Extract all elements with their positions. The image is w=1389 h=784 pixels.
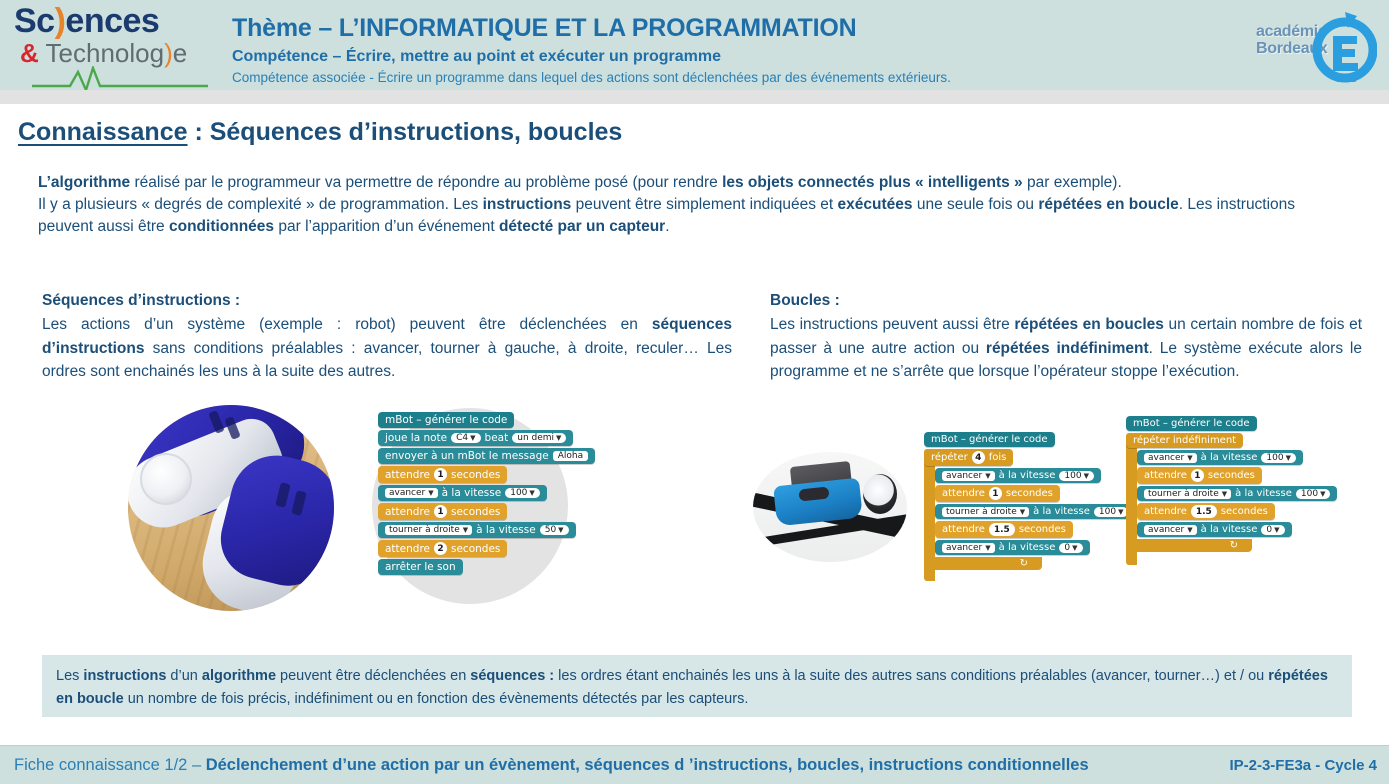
sequences-text-2: sans conditions préalables : avancer, to… (42, 340, 732, 381)
logo-line-technologie: & Technolog)e (20, 40, 214, 66)
chevron-down-icon: ▼ (529, 489, 534, 497)
intro-text-5: une seule fois ou (913, 196, 1039, 213)
block-tourner-droite[interactable]: tourner à droite▼ à la vitesse 100▼ (935, 504, 1135, 519)
wait-value: 2 (437, 544, 443, 554)
block-avancer-0[interactable]: avancer▼ à la vitesse 0▼ (935, 540, 1090, 555)
loop-container-repeat: répéter 4 fois avancer▼ à la vitesse 100… (924, 449, 1135, 570)
wait-seconds-input[interactable]: 1 (1191, 469, 1204, 482)
direction-value: avancer (946, 543, 982, 553)
direction-dropdown[interactable]: avancer▼ (1144, 453, 1197, 463)
intro-bold-repetees: répétées en boucle (1038, 196, 1178, 213)
intro-text-3: Il y a plusieurs « degrés de complexité … (38, 196, 483, 213)
direction-dropdown[interactable]: avancer▼ (942, 471, 995, 481)
beat-dropdown[interactable]: un demi▼ (512, 433, 566, 443)
summary-box: Les instructions d’un algorithme peuvent… (42, 655, 1352, 717)
direction-value: tourner à droite (389, 525, 460, 535)
intro-text-2: par exemple). (1023, 174, 1122, 191)
block-attendre-1[interactable]: attendre 1 secondes (1137, 467, 1262, 484)
block-label: répéter (931, 452, 968, 463)
intro-bold-conditionnees: conditionnées (169, 218, 274, 235)
block-envoyer-message[interactable]: envoyer à un mBot le message Aloha (378, 448, 595, 464)
academie-bordeaux-logo: académie Bordeaux (1254, 6, 1379, 86)
block-attendre-1[interactable]: attendre 1 secondes (935, 485, 1060, 502)
column-sequences: Séquences d’instructions : Les actions d… (42, 292, 732, 384)
block-label-unit: secondes (451, 543, 500, 555)
chevron-down-icon: ▼ (985, 472, 990, 480)
speed-value: 100 (1064, 471, 1081, 481)
wait-seconds-input[interactable]: 1 (989, 487, 1002, 500)
repeat-count-input[interactable]: 4 (972, 451, 985, 464)
speed-dropdown[interactable]: 0▼ (1059, 543, 1082, 553)
block-hat-mbot[interactable]: mBot – générer le code (924, 432, 1055, 447)
summary-text-2: d’un (166, 668, 201, 684)
page-header: Sc)ences & Technolog)e Thème – L’INFORMA… (0, 0, 1389, 90)
speed-value: 100 (510, 488, 527, 498)
chevron-down-icon: ▼ (985, 544, 990, 552)
block-attendre-15[interactable]: attendre 1.5 secondes (1137, 503, 1275, 520)
wait-value: 1 (992, 489, 998, 499)
photo-robots (128, 405, 334, 611)
robot-one-wheel (140, 453, 192, 505)
fiche-connaissance-page: Sc)ences & Technolog)e Thème – L’INFORMA… (0, 0, 1389, 784)
chevron-down-icon: ▼ (428, 489, 433, 497)
speed-value: 100 (1099, 507, 1116, 517)
intro-paragraph: L’algorithme réalisé par le programmeur … (38, 172, 1328, 238)
chevron-down-icon: ▼ (1072, 544, 1077, 552)
wait-seconds-input[interactable]: 1.5 (989, 523, 1015, 536)
competence-line: Compétence – Écrire, mettre au point et … (232, 47, 1232, 66)
logo-line-sciences: Sc)ences (14, 4, 214, 38)
speed-value: 100 (1266, 453, 1283, 463)
chevron-down-icon: ▼ (1222, 490, 1227, 498)
block-label: attendre (942, 488, 985, 499)
direction-value: avancer (1148, 525, 1184, 535)
loop-arrow-icon: ↻ (1230, 540, 1238, 551)
intro-bold-executees: exécutées (838, 196, 913, 213)
summary-bold-algorithme: algorithme (202, 668, 276, 684)
block-label: à la vitesse (1235, 488, 1292, 499)
block-label-unit: secondes (1006, 488, 1053, 499)
speed-value: 0 (1266, 525, 1272, 535)
direction-dropdown[interactable]: avancer▼ (1144, 525, 1197, 535)
sciences-technologie-logo: Sc)ences & Technolog)e (14, 4, 214, 84)
summary-text-5: un nombre de fois précis, indéfiniment o… (124, 691, 749, 707)
wait-value: 1.5 (1196, 507, 1212, 517)
wait-seconds-input[interactable]: 1 (434, 505, 447, 518)
sequences-paragraph: Les actions d’un système (exemple : robo… (42, 313, 732, 384)
direction-dropdown[interactable]: tourner à droite▼ (942, 507, 1029, 517)
block-label-unit: secondes (1221, 506, 1268, 517)
wait-value: 1 (1194, 471, 1200, 481)
intro-text-8: . (665, 218, 669, 235)
summary-bold-sequences: séquences : (470, 668, 554, 684)
intro-bold-algorithme: L’algorithme (38, 174, 130, 191)
summary-bold-instructions: instructions (83, 668, 166, 684)
chevron-down-icon: ▼ (1020, 508, 1025, 516)
block-label-beat: beat (485, 432, 509, 444)
summary-text-4: les ordres étant enchainés les uns à la … (554, 668, 1268, 684)
note-value: C4 (456, 433, 468, 443)
chevron-down-icon: ▼ (1286, 454, 1291, 462)
speed-dropdown[interactable]: 100▼ (1296, 489, 1331, 499)
message-input[interactable]: Aloha (553, 451, 588, 461)
direction-dropdown[interactable]: avancer▼ (942, 543, 995, 553)
logo-sc-text: Sc (14, 2, 55, 40)
block-label: à la vitesse (476, 524, 536, 536)
wait-seconds-input[interactable]: 1.5 (1191, 505, 1217, 518)
photo-mbot (753, 452, 907, 562)
block-label: arrêter le son (385, 561, 456, 573)
chevron-down-icon: ▼ (1084, 472, 1089, 480)
loop-body: avancer▼ à la vitesse 100▼ attendre 1 se… (1137, 450, 1337, 539)
speed-dropdown[interactable]: 100▼ (1261, 453, 1296, 463)
logo-paren2-icon: ) (164, 38, 173, 68)
program-sequence: mBot – générer le code joue la note C4▼ … (378, 412, 595, 577)
page-title: Connaissance : Séquences d’instructions,… (18, 118, 622, 147)
footer-reference-code: IP-2-3-FE3a - Cycle 4 (1229, 757, 1377, 774)
chevron-down-icon: ▼ (556, 434, 561, 442)
wait-value: 1 (437, 470, 443, 480)
direction-value: avancer (1148, 453, 1184, 463)
chevron-down-icon: ▼ (470, 434, 475, 442)
block-attendre-1b[interactable]: attendre 1 secondes (378, 503, 507, 520)
boucles-heading: Boucles : (770, 292, 1362, 310)
boucles-paragraph: Les instructions peuvent aussi être répé… (770, 313, 1362, 384)
speed-dropdown[interactable]: 50▼ (540, 525, 569, 535)
logo-technolog-text: Technolog (46, 38, 165, 68)
summary-text-1: Les (56, 668, 83, 684)
block-repeter-fois[interactable]: répéter 4 fois (924, 449, 1013, 466)
message-value: Aloha (558, 451, 583, 461)
block-hat-label: mBot – générer le code (1133, 418, 1250, 429)
block-label-unit: secondes (451, 506, 500, 518)
intro-bold-objets: les objets connectés plus « intelligents… (722, 174, 1023, 191)
wait-value: 1 (437, 507, 443, 517)
speed-value: 0 (1064, 543, 1070, 553)
header-text-block: Thème – L’INFORMATIQUE ET LA PROGRAMMATI… (232, 14, 1232, 86)
block-label: joue la note (385, 432, 447, 444)
block-hat-mbot[interactable]: mBot – générer le code (378, 412, 514, 428)
footer-subject-label: Déclenchement d’une action par un évènem… (206, 756, 1089, 774)
intro-bold-instructions: instructions (483, 196, 572, 213)
page-title-rest: : Séquences d’instructions, boucles (188, 118, 623, 146)
logo-paren-icon: ) (55, 2, 66, 40)
block-label-unit: secondes (1019, 524, 1066, 535)
logo-ampersand: & (20, 38, 39, 68)
direction-dropdown[interactable]: tourner à droite▼ (385, 525, 472, 535)
block-tourner-droite[interactable]: tourner à droite▼ à la vitesse 100▼ (1137, 486, 1337, 501)
note-dropdown[interactable]: C4▼ (451, 433, 480, 443)
speed-value: 50 (545, 525, 556, 535)
block-label-unit: secondes (451, 469, 500, 481)
chevron-down-icon: ▼ (1187, 526, 1192, 534)
speed-dropdown[interactable]: 100▼ (1059, 471, 1094, 481)
block-avancer-0[interactable]: avancer▼ à la vitesse 0▼ (1137, 522, 1292, 537)
direction-value: tourner à droite (946, 507, 1017, 517)
loop-container-forever: répéter indéfiniment avancer▼ à la vites… (1126, 433, 1337, 552)
block-label: à la vitesse (1033, 506, 1090, 517)
block-hat-label: mBot – générer le code (931, 434, 1048, 445)
program-loop-count: mBot – générer le code répéter 4 fois av… (924, 432, 1135, 570)
block-label: envoyer à un mBot le message (385, 450, 549, 462)
block-avancer-1[interactable]: avancer▼ à la vitesse 100▼ (378, 485, 547, 501)
block-label: à la vitesse (1201, 452, 1258, 463)
block-label: attendre (942, 524, 985, 535)
program-loop-forever: mBot – générer le code répéter indéfinim… (1126, 416, 1337, 552)
page-footer: Fiche connaissance 1/2 – Déclenchement d… (0, 745, 1389, 784)
speed-dropdown[interactable]: 100▼ (505, 488, 540, 498)
block-label: attendre (385, 543, 430, 555)
loop-foot: ↻ (924, 557, 1042, 570)
chevron-down-icon: ▼ (1187, 454, 1192, 462)
wait-seconds-input[interactable]: 1 (434, 468, 447, 481)
chevron-down-icon: ▼ (1274, 526, 1279, 534)
wait-seconds-input[interactable]: 2 (434, 542, 447, 555)
ecg-wave-icon (30, 66, 210, 92)
chevron-down-icon: ▼ (1118, 508, 1123, 516)
sequences-heading: Séquences d’instructions : (42, 292, 732, 310)
speed-dropdown[interactable]: 0▼ (1261, 525, 1284, 535)
speed-dropdown[interactable]: 100▼ (1094, 507, 1129, 517)
repeat-count-value: 4 (975, 453, 981, 463)
wait-value: 1.5 (994, 525, 1010, 535)
boucles-bold-2: répétées indéfiniment (986, 340, 1149, 357)
mbot-wheel (863, 474, 897, 514)
boucles-bold-1: répétées en boucles (1014, 316, 1164, 333)
logo-e-text: e (173, 38, 187, 68)
block-label-unit: secondes (1208, 470, 1255, 481)
theme-title: Thème – L’INFORMATIQUE ET LA PROGRAMMATI… (232, 14, 1232, 43)
footer-fiche-label: Fiche connaissance 1/2 – (14, 756, 206, 774)
loop-arrow-icon: ↻ (1020, 558, 1028, 569)
speed-value: 100 (1301, 489, 1318, 499)
block-hat-mbot[interactable]: mBot – générer le code (1126, 416, 1257, 431)
summary-text-3: peuvent être déclenchées en (276, 668, 470, 684)
header-separator-band (0, 90, 1389, 104)
chevron-down-icon: ▼ (558, 526, 563, 534)
footer-left-text: Fiche connaissance 1/2 – Déclenchement d… (14, 756, 1089, 775)
block-repeter-indefiniment[interactable]: répéter indéfiniment (1126, 433, 1243, 448)
competence-associee-line: Compétence associée - Écrire un programm… (232, 70, 1232, 86)
sequences-text-1: Les actions d’un système (exemple : robo… (42, 316, 652, 333)
block-arreter-le-son[interactable]: arrêter le son (378, 559, 463, 575)
block-label: attendre (385, 469, 430, 481)
block-label: attendre (1144, 506, 1187, 517)
block-hat-label: mBot – générer le code (385, 414, 507, 426)
block-attendre-2[interactable]: attendre 2 secondes (378, 540, 507, 557)
block-label: attendre (385, 506, 430, 518)
intro-text-1: réalisé par le programmeur va permettre … (130, 174, 722, 191)
intro-text-4: peuvent être simplement indiquées et (571, 196, 837, 213)
block-avancer-1[interactable]: avancer▼ à la vitesse 100▼ (1137, 450, 1303, 465)
direction-value: avancer (946, 471, 982, 481)
block-label: attendre (1144, 470, 1187, 481)
block-label: à la vitesse (999, 542, 1056, 553)
chevron-down-icon: ▼ (463, 526, 468, 534)
block-tourner-droite-1[interactable]: tourner à droite▼ à la vitesse 50▼ (378, 522, 576, 538)
block-label: à la vitesse (999, 470, 1056, 481)
intro-bold-capteur: détecté par un capteur (499, 218, 665, 235)
block-attendre-15[interactable]: attendre 1.5 secondes (935, 521, 1073, 538)
block-label-fois: fois (989, 452, 1007, 463)
logo-ences-text: ences (65, 2, 159, 40)
boucles-text-1: Les instructions peuvent aussi être (770, 316, 1014, 333)
intro-text-7: par l’apparition d’un événement (274, 218, 499, 235)
loop-body: avancer▼ à la vitesse 100▼ attendre 1 se… (935, 468, 1135, 557)
page-title-keyword: Connaissance (18, 118, 188, 146)
chevron-down-icon: ▼ (1320, 490, 1325, 498)
column-boucles: Boucles : Les instructions peuvent aussi… (770, 292, 1362, 384)
block-label: à la vitesse (442, 487, 502, 499)
direction-value: tourner à droite (1148, 489, 1219, 499)
direction-dropdown[interactable]: avancer▼ (385, 488, 438, 498)
block-attendre-1a[interactable]: attendre 1 secondes (378, 466, 507, 483)
direction-value: avancer (389, 488, 425, 498)
block-label: à la vitesse (1201, 524, 1258, 535)
academie-e-mark-icon (1305, 10, 1377, 84)
beat-value: un demi (517, 433, 554, 443)
loop-foot: ↻ (1126, 539, 1252, 552)
direction-dropdown[interactable]: tourner à droite▼ (1144, 489, 1231, 499)
block-label: répéter indéfiniment (1133, 435, 1236, 446)
block-avancer-1[interactable]: avancer▼ à la vitesse 100▼ (935, 468, 1101, 483)
block-joue-la-note[interactable]: joue la note C4▼ beat un demi▼ (378, 430, 573, 446)
